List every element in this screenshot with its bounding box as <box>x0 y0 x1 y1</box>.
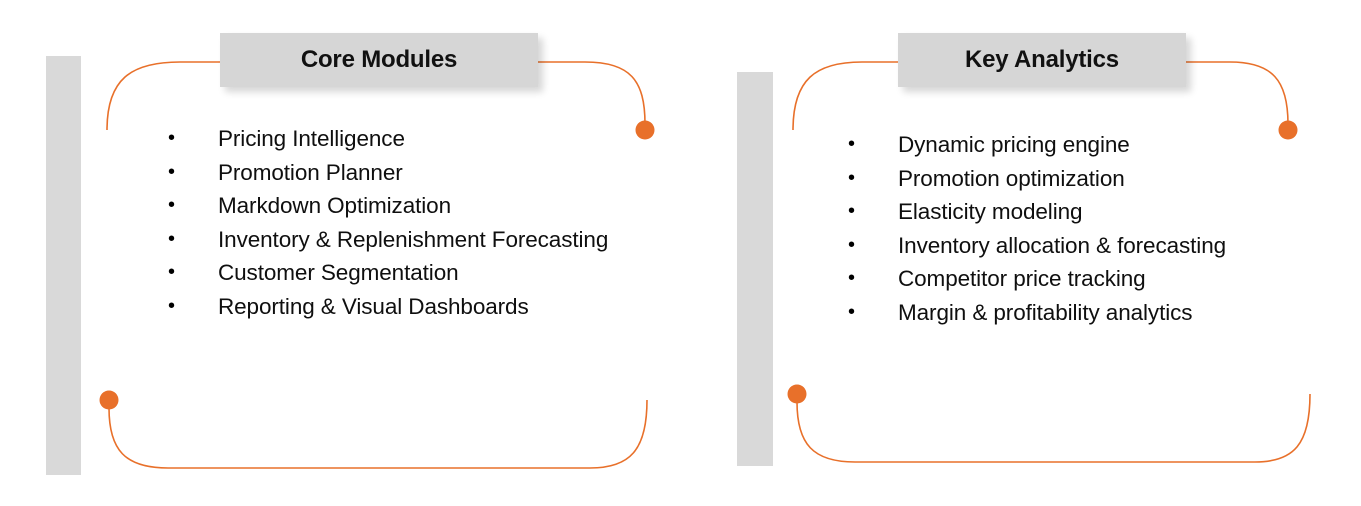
panel-header-key-analytics[interactable]: Key Analytics <box>898 33 1186 87</box>
panel-title-key-analytics: Key Analytics <box>965 46 1119 74</box>
bullet-icon: • <box>848 195 898 229</box>
list-item: • Reporting & Visual Dashboards <box>168 290 638 324</box>
bullet-icon: • <box>848 296 898 330</box>
list-item-label: Dynamic pricing engine <box>898 128 1298 162</box>
list-item: • Inventory allocation & forecasting <box>848 229 1298 263</box>
list-item: • Customer Segmentation <box>168 256 638 290</box>
list-item: • Promotion Planner <box>168 156 638 190</box>
bullet-icon: • <box>848 262 898 296</box>
bullet-icon: • <box>848 229 898 263</box>
list-item: • Pricing Intelligence <box>168 122 638 156</box>
list-item-label: Promotion optimization <box>898 162 1298 196</box>
bullet-icon: • <box>168 189 218 223</box>
bullet-icon: • <box>168 256 218 290</box>
list-item-label: Margin & profitability analytics <box>898 296 1298 330</box>
panel-key-analytics: Key Analytics • Dynamic pricing engine •… <box>680 0 1361 506</box>
list-item-label: Pricing Intelligence <box>218 122 638 156</box>
bullet-list-core-modules: • Pricing Intelligence • Promotion Plann… <box>168 122 638 323</box>
bullet-icon: • <box>848 128 898 162</box>
panel-accent-bar-left <box>46 56 81 475</box>
panel-header-core-modules[interactable]: Core Modules <box>220 33 538 87</box>
bullet-icon: • <box>168 156 218 190</box>
list-item-label: Customer Segmentation <box>218 256 638 290</box>
slide-canvas: Core Modules • Pricing Intelligence • Pr… <box>0 0 1361 506</box>
bullet-list-key-analytics: • Dynamic pricing engine • Promotion opt… <box>848 128 1298 329</box>
list-item-label: Markdown Optimization <box>218 189 638 223</box>
bullet-icon: • <box>848 162 898 196</box>
list-item: • Markdown Optimization <box>168 189 638 223</box>
list-item-label: Elasticity modeling <box>898 195 1298 229</box>
list-item: • Competitor price tracking <box>848 262 1298 296</box>
list-item-label: Competitor price tracking <box>898 262 1298 296</box>
panel-title-core-modules: Core Modules <box>301 46 457 74</box>
list-item: • Dynamic pricing engine <box>848 128 1298 162</box>
panel-accent-bar-right <box>737 72 773 466</box>
list-item: • Margin & profitability analytics <box>848 296 1298 330</box>
list-item: • Elasticity modeling <box>848 195 1298 229</box>
bullet-icon: • <box>168 290 218 324</box>
bullet-icon: • <box>168 223 218 257</box>
list-item-label: Reporting & Visual Dashboards <box>218 290 638 324</box>
list-item-label: Promotion Planner <box>218 156 638 190</box>
list-item: • Inventory & Replenishment Forecasting <box>168 223 638 257</box>
panel-core-modules: Core Modules • Pricing Intelligence • Pr… <box>0 0 680 506</box>
list-item-label: Inventory & Replenishment Forecasting <box>218 223 638 257</box>
bullet-icon: • <box>168 122 218 156</box>
list-item: • Promotion optimization <box>848 162 1298 196</box>
list-item-label: Inventory allocation & forecasting <box>898 229 1298 263</box>
